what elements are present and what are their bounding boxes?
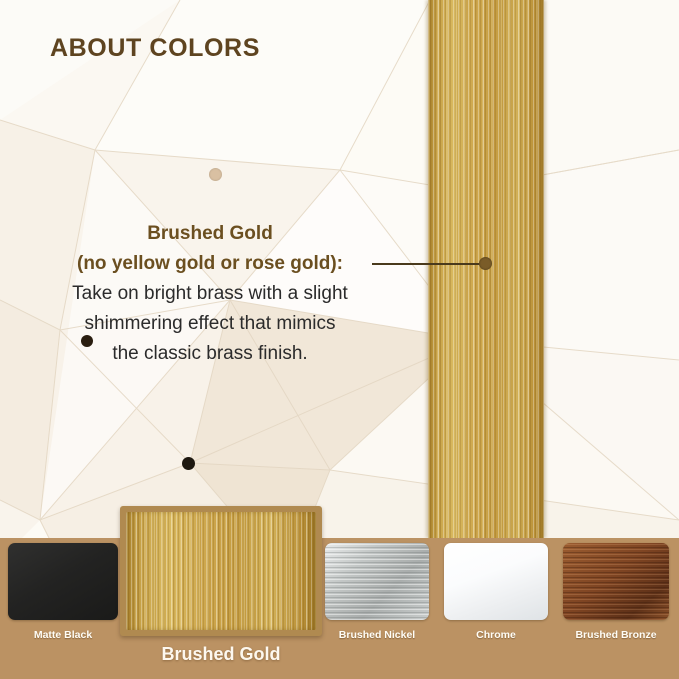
swatch-chrome[interactable]: Chrome (444, 543, 548, 620)
swatch-matte-black[interactable]: Matte Black (8, 543, 118, 620)
swatch-label-brushed-nickel: Brushed Nickel (339, 629, 415, 641)
product-color-infographic: ABOUT COLORS Brushed Gold (no yellow gol… (0, 0, 679, 679)
callout-body-line-1: Take on bright brass with a slight (46, 279, 374, 309)
callout-leader-line (372, 263, 486, 265)
callout-body-line-3: the classic brass finish. (46, 339, 374, 369)
swatch-tile-chrome (444, 543, 548, 620)
swatch-brushed-nickel[interactable]: Brushed Nickel (325, 543, 429, 620)
swatch-tile-brushed-nickel (325, 543, 429, 620)
vertex-dot-icon-dark-2 (182, 457, 195, 470)
swatch-label-matte-black: Matte Black (34, 629, 92, 641)
swatch-label-brushed-gold: Brushed Gold (120, 644, 322, 665)
color-swatch-bar: Matte Black Brushed Nickel Chrome Brushe… (0, 538, 679, 679)
vertex-dot-icon-dark-1 (81, 335, 93, 347)
swatch-tile-brushed-gold (126, 512, 316, 630)
swatch-label-chrome: Chrome (476, 629, 516, 641)
swatch-brushed-gold-selected[interactable] (120, 506, 322, 636)
callout-body-line-2: shimmering effect that mimics (46, 309, 374, 339)
callout-heading-line-2: (no yellow gold or rose gold): (46, 249, 374, 279)
vertex-dot-icon-tan (209, 168, 222, 181)
swatch-brushed-bronze[interactable]: Brushed Bronze (563, 543, 669, 620)
leader-end-dot-icon (479, 257, 492, 270)
callout-text-block: Brushed Gold (no yellow gold or rose gol… (46, 219, 374, 369)
swatch-tile-brushed-bronze (563, 543, 669, 620)
page-title: ABOUT COLORS (50, 34, 260, 63)
swatch-label-brushed-bronze: Brushed Bronze (575, 629, 656, 641)
swatch-tile-matte-black (8, 543, 118, 620)
callout-heading-line-1: Brushed Gold (46, 219, 374, 249)
